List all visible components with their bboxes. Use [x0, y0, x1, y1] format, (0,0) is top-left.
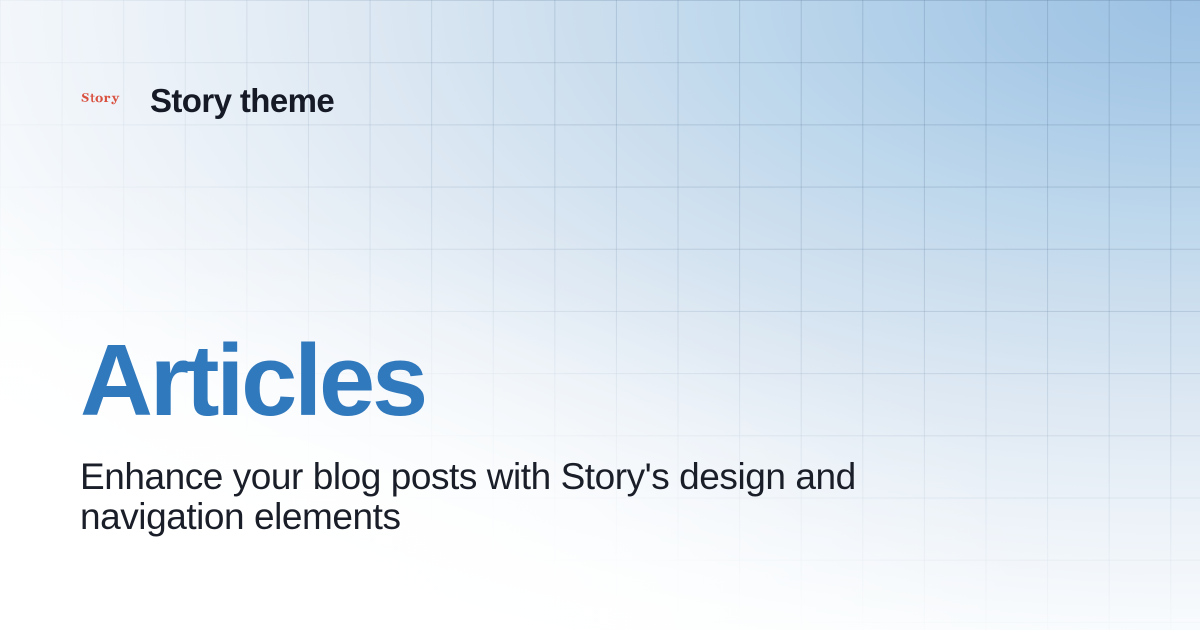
social-card-canvas: Story theme Articles Enhance your blog p… [0, 0, 1200, 630]
story-wordmark-icon [80, 88, 132, 114]
brand-header: Story theme [80, 84, 334, 117]
page-title: Articles [80, 330, 980, 433]
page-subtitle: Enhance your blog posts with Story's des… [80, 457, 870, 537]
hero-block: Articles Enhance your blog posts with St… [80, 330, 980, 537]
brand-title: Story theme [150, 84, 334, 117]
